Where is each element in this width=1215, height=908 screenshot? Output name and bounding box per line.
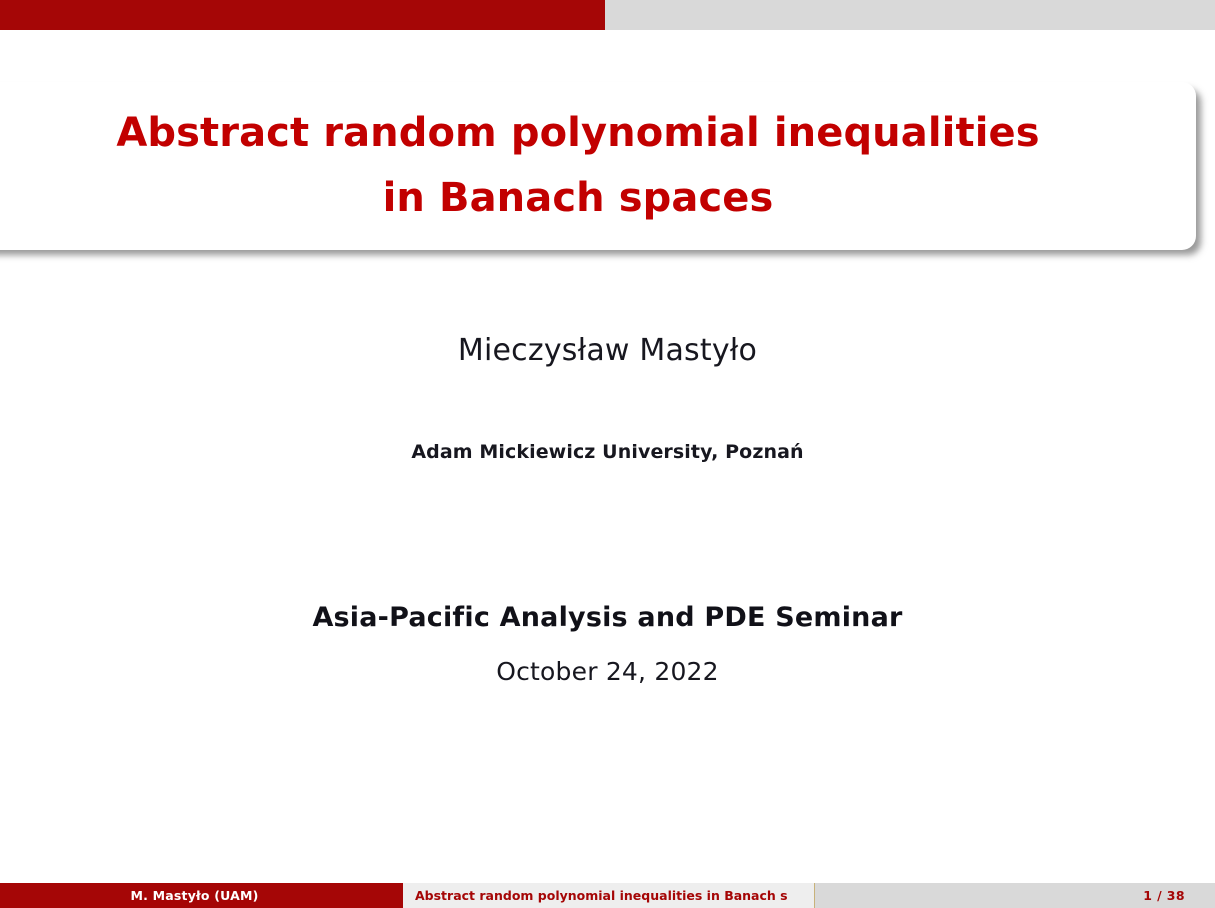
footer-title: Abstract random polynomial inequalities … bbox=[403, 883, 815, 908]
top-bar-red-segment bbox=[0, 0, 605, 30]
slide-title-block: Abstract random polynomial inequalities … bbox=[0, 82, 1196, 250]
slide-title-inner: Abstract random polynomial inequalities … bbox=[0, 82, 1156, 250]
institute-affiliation: Adam Mickiewicz University, Poznań bbox=[0, 441, 1215, 463]
footer-page-indicator: 1 / 38 bbox=[815, 883, 1215, 908]
event-name: Asia-Pacific Analysis and PDE Seminar bbox=[0, 602, 1215, 633]
author-name: Mieczysław Mastyło bbox=[0, 333, 1215, 368]
page-title-line-2: in Banach spaces bbox=[383, 166, 774, 231]
page-title-line-1: Abstract random polynomial inequalities bbox=[116, 101, 1039, 166]
footer-author: M. Mastyło (UAM) bbox=[0, 883, 403, 908]
slide-footer: M. Mastyło (UAM) Abstract random polynom… bbox=[0, 883, 1215, 908]
slide-body: Mieczysław Mastyło Adam Mickiewicz Unive… bbox=[0, 250, 1215, 883]
presentation-date: October 24, 2022 bbox=[0, 657, 1215, 686]
top-decoration-bar bbox=[0, 0, 1215, 30]
